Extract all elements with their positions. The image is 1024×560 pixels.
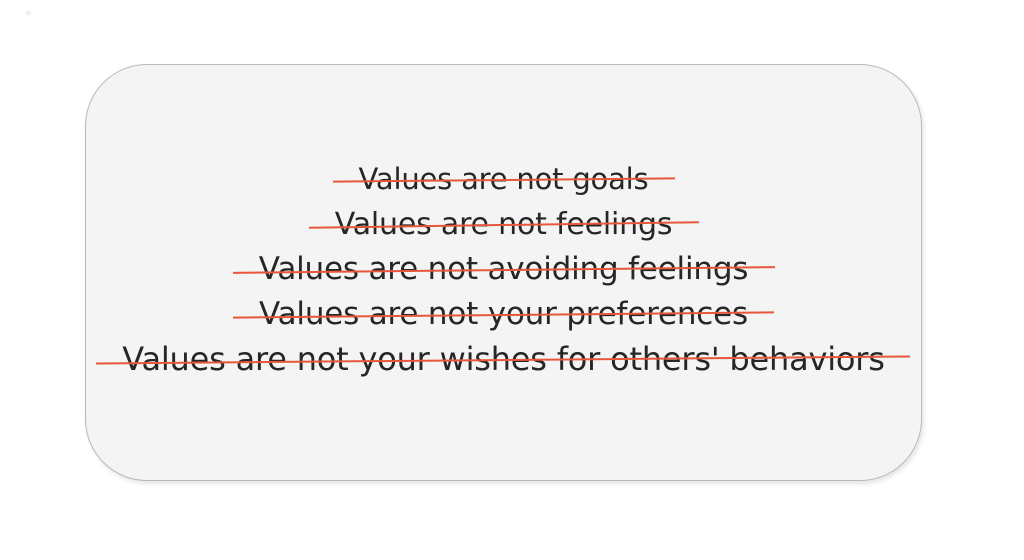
value-line-text: Values are not goals: [359, 162, 649, 196]
value-line-text: Values are not your preferences: [259, 296, 748, 332]
slide-canvas: Values are not goals Values are not feel…: [0, 0, 1024, 560]
list-item: Values are not your wishes for others' b…: [122, 337, 884, 382]
list-item: Values are not feelings: [335, 202, 673, 247]
value-line-text: Values are not your wishes for others' b…: [122, 340, 884, 378]
value-line-text: Values are not avoiding feelings: [259, 251, 749, 287]
list-item: Values are not goals: [359, 157, 649, 202]
list-item: Values are not avoiding feelings: [259, 247, 749, 292]
canvas-speck-artifact: [26, 11, 31, 15]
values-list: Values are not goals Values are not feel…: [86, 157, 921, 382]
list-item: Values are not your preferences: [259, 292, 748, 337]
value-line-text: Values are not feelings: [335, 207, 673, 242]
values-card: Values are not goals Values are not feel…: [85, 64, 922, 481]
